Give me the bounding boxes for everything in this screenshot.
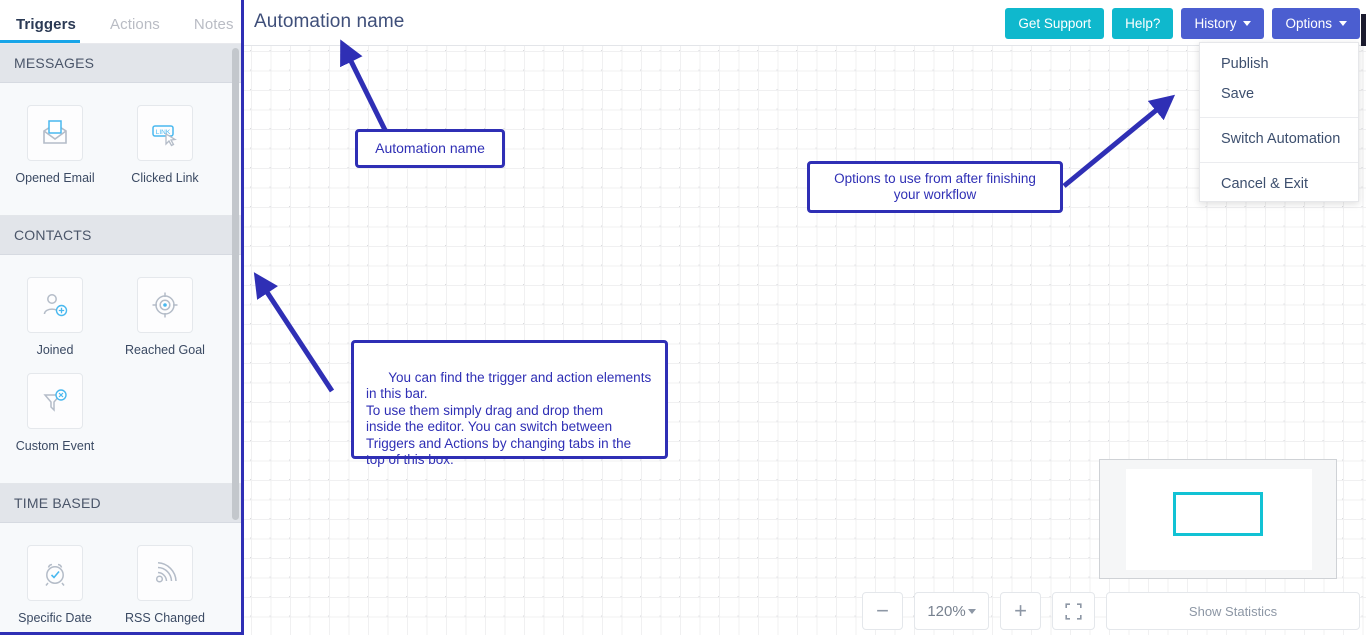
tab-actions[interactable]: Actions (106, 16, 176, 44)
help-label: Help? (1125, 16, 1160, 31)
annotation-automation-name-text: Automation name (375, 140, 485, 157)
annotation-sidebar: You can find the trigger and action elem… (351, 340, 668, 459)
tab-notes-label: Notes (194, 16, 234, 33)
history-label: History (1194, 16, 1236, 31)
chevron-down-icon (968, 609, 976, 614)
canvas-minimap[interactable] (1099, 459, 1337, 579)
show-statistics-label: Show Statistics (1189, 604, 1277, 619)
section-header-time-based: TIME BASED (0, 484, 241, 523)
element-clicked-link[interactable]: LINK Clicked Link (110, 105, 220, 185)
element-joined-label: Joined (37, 343, 74, 357)
sidebar-scrollbar-thumb[interactable] (232, 48, 239, 520)
fit-to-screen-button[interactable] (1052, 592, 1095, 630)
element-specific-date[interactable]: Specific Date (0, 545, 110, 625)
section-header-contacts-label: CONTACTS (14, 227, 92, 243)
annotation-automation-name: Automation name (355, 129, 505, 168)
chevron-down-icon (1339, 21, 1347, 26)
show-statistics-button[interactable]: Show Statistics (1106, 592, 1360, 630)
menu-item-save[interactable]: Save (1200, 79, 1358, 109)
element-reached-goal[interactable]: Reached Goal (110, 277, 220, 357)
sidebar-tabs: Triggers Actions Notes (0, 0, 241, 44)
history-button[interactable]: History (1181, 8, 1264, 39)
element-reached-goal-label: Reached Goal (125, 343, 205, 357)
options-dropdown-menu: Publish Save Switch Automation Cancel & … (1199, 42, 1359, 202)
options-button[interactable]: Options (1272, 8, 1360, 39)
elements-sidebar: Triggers Actions Notes MESSAGES (0, 0, 244, 635)
menu-item-cancel-exit[interactable]: Cancel & Exit (1200, 169, 1358, 199)
element-specific-date-label: Specific Date (18, 611, 92, 625)
get-support-label: Get Support (1018, 16, 1091, 31)
options-label: Options (1285, 16, 1332, 31)
element-rss-changed-label: RSS Changed (125, 611, 205, 625)
user-add-icon (27, 277, 83, 333)
menu-item-publish[interactable]: Publish (1200, 49, 1358, 79)
section-header-messages-label: MESSAGES (14, 55, 94, 71)
zoom-in-button[interactable]: + (1000, 592, 1041, 630)
section-body-time-based: Specific Date RSS Changed (0, 523, 241, 632)
offscreen-edge-element[interactable] (1361, 14, 1366, 46)
canvas-zoom-toolbar: − 120% + Show Statistics (862, 592, 1360, 630)
tab-actions-label: Actions (110, 16, 160, 33)
annotation-options-text: Options to use from after finishing your… (834, 171, 1036, 204)
arrow-to-options (1064, 103, 1165, 186)
funnel-event-icon (27, 373, 83, 429)
opened-email-icon (27, 105, 83, 161)
zoom-in-icon: + (1014, 598, 1027, 624)
section-header-messages: MESSAGES (0, 44, 241, 83)
arrow-to-sidebar (261, 283, 332, 391)
section-body-messages: Opened Email LINK Clicked Link (0, 83, 241, 216)
target-icon (137, 277, 193, 333)
section-header-time-based-label: TIME BASED (14, 495, 101, 511)
element-rss-changed[interactable]: RSS Changed (110, 545, 220, 625)
section-header-contacts: CONTACTS (0, 216, 241, 255)
top-header-bar: Automation name Get Support Help? Histor… (244, 0, 1366, 46)
tab-triggers-label: Triggers (16, 16, 76, 33)
chevron-down-icon (1243, 21, 1251, 26)
zoom-level-label: 120% (927, 603, 965, 620)
menu-item-switch-automation[interactable]: Switch Automation (1200, 124, 1358, 154)
header-action-buttons: Get Support Help? History Options (1005, 8, 1360, 39)
annotation-sidebar-text: You can find the trigger and action elem… (366, 370, 651, 468)
zoom-out-button[interactable]: − (862, 592, 903, 630)
zoom-out-icon: − (876, 598, 889, 624)
element-custom-event-label: Custom Event (16, 439, 95, 453)
section-body-contacts: Joined Reached Goal (0, 255, 241, 484)
menu-divider (1200, 117, 1358, 118)
element-opened-email-label: Opened Email (15, 171, 94, 185)
help-button[interactable]: Help? (1112, 8, 1173, 39)
clicked-link-icon: LINK (137, 105, 193, 161)
zoom-level-dropdown[interactable]: 120% (914, 592, 989, 630)
sidebar-scroll-area[interactable]: MESSAGES Opened Email (0, 44, 241, 632)
minimap-viewport-rect[interactable] (1173, 492, 1263, 536)
workflow-canvas[interactable]: Automation name Options to use from afte… (244, 46, 1366, 635)
options-menu-group-3: Cancel & Exit (1200, 169, 1358, 201)
element-clicked-link-label: Clicked Link (131, 171, 198, 185)
rss-icon (137, 545, 193, 601)
element-opened-email[interactable]: Opened Email (0, 105, 110, 185)
options-menu-group-1: Publish Save (1200, 49, 1358, 111)
automation-builder-app: Triggers Actions Notes MESSAGES (0, 0, 1366, 635)
fit-to-screen-icon (1065, 603, 1082, 620)
menu-divider (1200, 162, 1358, 163)
get-support-button[interactable]: Get Support (1005, 8, 1104, 39)
tab-notes[interactable]: Notes (190, 16, 244, 44)
page-title: Automation name (254, 11, 404, 33)
element-custom-event[interactable]: Custom Event (0, 373, 110, 453)
element-joined[interactable]: Joined (0, 277, 110, 357)
annotation-options: Options to use from after finishing your… (807, 161, 1063, 213)
alarm-clock-icon (27, 545, 83, 601)
options-menu-group-2: Switch Automation (1200, 124, 1358, 156)
